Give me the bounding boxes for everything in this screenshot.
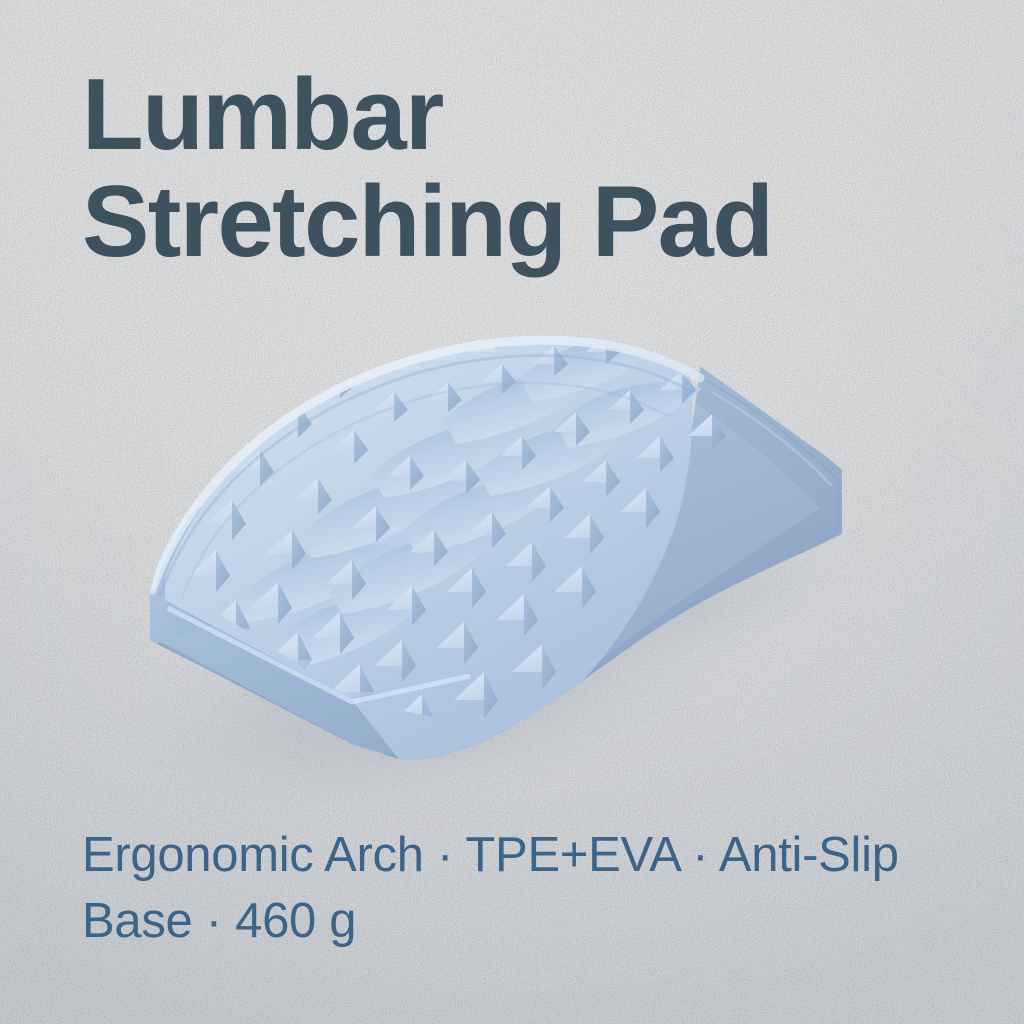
product-card: Lumbar Stretching Pad Ergonomic Arch · T…	[0, 0, 1024, 1024]
product-spec-caption: Ergonomic Arch · TPE+EVA · Anti-Slip Bas…	[82, 822, 952, 954]
page-title: Lumbar Stretching Pad	[82, 62, 922, 276]
